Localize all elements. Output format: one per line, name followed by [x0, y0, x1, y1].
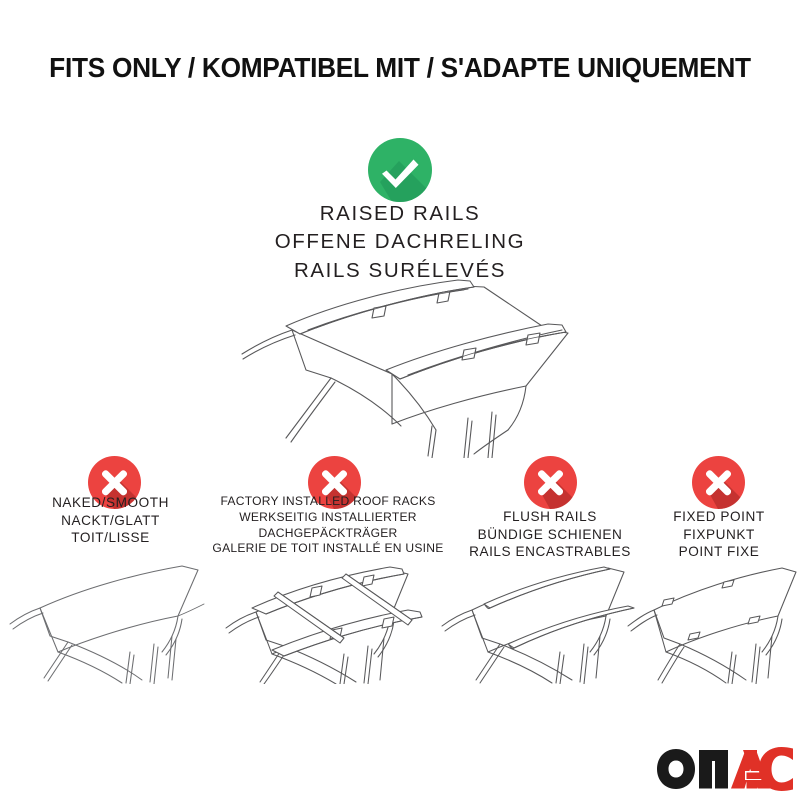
- page-title: FITS ONLY / KOMPATIBEL MIT / S'ADAPTE UN…: [18, 52, 782, 84]
- omac-logo: [657, 747, 793, 791]
- check-circle-icon: [368, 138, 432, 202]
- naked-smooth-label-de: NACKT/GLATT: [8, 512, 213, 530]
- compatible-label-de: OFFENE DACHRELING: [0, 228, 800, 256]
- flush-rails-labels: FLUSH RAILS BÜNDIGE SCHIENEN RAILS ENCAS…: [452, 508, 648, 561]
- flush-rails-label-en: FLUSH RAILS: [452, 508, 648, 526]
- fixed-point-labels: FIXED POINT FIXPUNKT POINT FIXE: [638, 508, 800, 561]
- factory-racks-label-de-1: WERKSEITIG INSTALLIERTER: [198, 510, 458, 526]
- infographic-page: FITS ONLY / KOMPATIBEL MIT / S'ADAPTE UN…: [0, 0, 800, 800]
- car-roof-with-fixed-points-illustration: [620, 562, 800, 684]
- car-roof-with-raised-rails-illustration: [196, 278, 616, 458]
- factory-racks-label-de-2: DACHGEPÄCKTRÄGER: [198, 526, 458, 542]
- cross-circle-icon: [524, 456, 577, 509]
- compatible-labels: RAISED RAILS OFFENE DACHRELING RAILS SUR…: [0, 200, 800, 285]
- factory-racks-labels: FACTORY INSTALLED ROOF RACKS WERKSEITIG …: [198, 494, 458, 557]
- logo-letter-m: [699, 750, 728, 789]
- compatible-label-en: RAISED RAILS: [0, 200, 800, 228]
- fixed-point-label-de: FIXPUNKT: [638, 526, 800, 544]
- flush-rails-label-fr: RAILS ENCASTRABLES: [452, 543, 648, 561]
- car-roof-with-crossbars-illustration: [216, 556, 436, 684]
- fixed-point-label-en: FIXED POINT: [638, 508, 800, 526]
- naked-smooth-label-fr: TOIT/LISSE: [8, 529, 213, 547]
- car-roof-with-flush-rails-illustration: [432, 560, 644, 684]
- flush-rails-label-de: BÜNDIGE SCHIENEN: [452, 526, 648, 544]
- factory-racks-label-fr: GALERIE DE TOIT INSTALLÉ EN USINE: [198, 541, 458, 557]
- naked-smooth-labels: NAKED/SMOOTH NACKT/GLATT TOIT/LISSE: [8, 494, 213, 547]
- factory-racks-label-en: FACTORY INSTALLED ROOF RACKS: [198, 494, 458, 510]
- fixed-point-label-fr: POINT FIXE: [638, 543, 800, 561]
- logo-letter-o: [657, 749, 695, 789]
- naked-smooth-label-en: NAKED/SMOOTH: [8, 494, 213, 512]
- cross-circle-icon: [692, 456, 745, 509]
- car-roof-bare-illustration: [2, 556, 218, 684]
